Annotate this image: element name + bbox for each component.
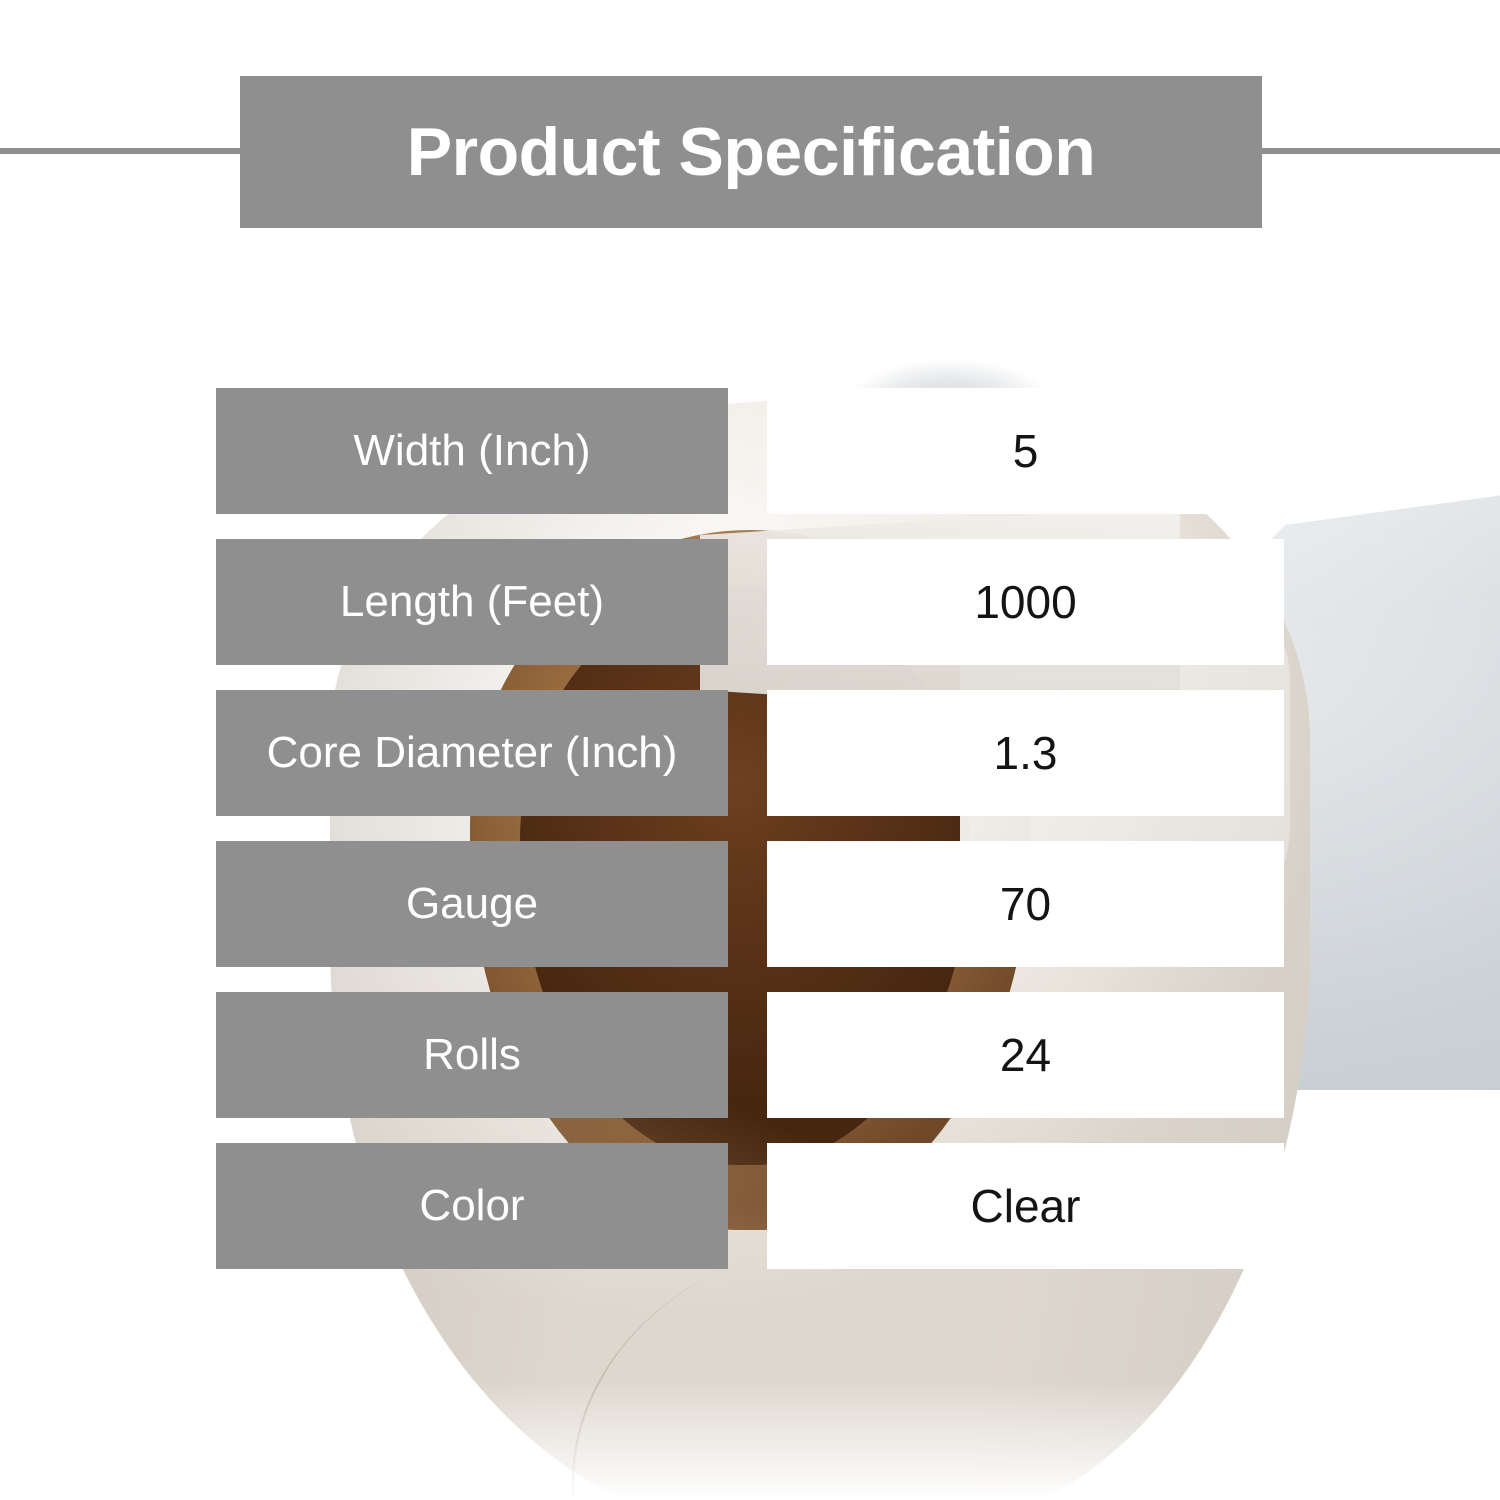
spec-value-length: 1000 (767, 539, 1284, 665)
spec-value-core-diameter: 1.3 (767, 690, 1284, 816)
spec-label-gauge: Gauge (216, 841, 728, 967)
table-row: Width (Inch) 5 (216, 388, 1284, 514)
spec-label-color: Color (216, 1143, 728, 1269)
row-gap (728, 841, 767, 967)
spec-value-width: 5 (767, 388, 1284, 514)
spec-value-rolls: 24 (767, 992, 1284, 1118)
row-gap (728, 388, 767, 514)
spec-label-core-diameter: Core Diameter (Inch) (216, 690, 728, 816)
spec-label-length: Length (Feet) (216, 539, 728, 665)
row-gap (728, 992, 767, 1118)
product-specification-infographic: Product Specification Width (Inch) 5 Len… (0, 0, 1500, 1500)
row-gap (728, 539, 767, 665)
table-row: Gauge 70 (216, 841, 1284, 967)
spec-value-gauge: 70 (767, 841, 1284, 967)
row-gap (728, 690, 767, 816)
spec-label-width: Width (Inch) (216, 388, 728, 514)
specification-table: Width (Inch) 5 Length (Feet) 1000 Core D… (216, 388, 1284, 1269)
header-banner: Product Specification (240, 76, 1262, 228)
table-row: Core Diameter (Inch) 1.3 (216, 690, 1284, 816)
page-title: Product Specification (407, 118, 1096, 186)
table-row: Rolls 24 (216, 992, 1284, 1118)
spec-label-rolls: Rolls (216, 992, 728, 1118)
table-row: Color Clear (216, 1143, 1284, 1269)
row-gap (728, 1143, 767, 1269)
spec-value-color: Clear (767, 1143, 1284, 1269)
table-row: Length (Feet) 1000 (216, 539, 1284, 665)
